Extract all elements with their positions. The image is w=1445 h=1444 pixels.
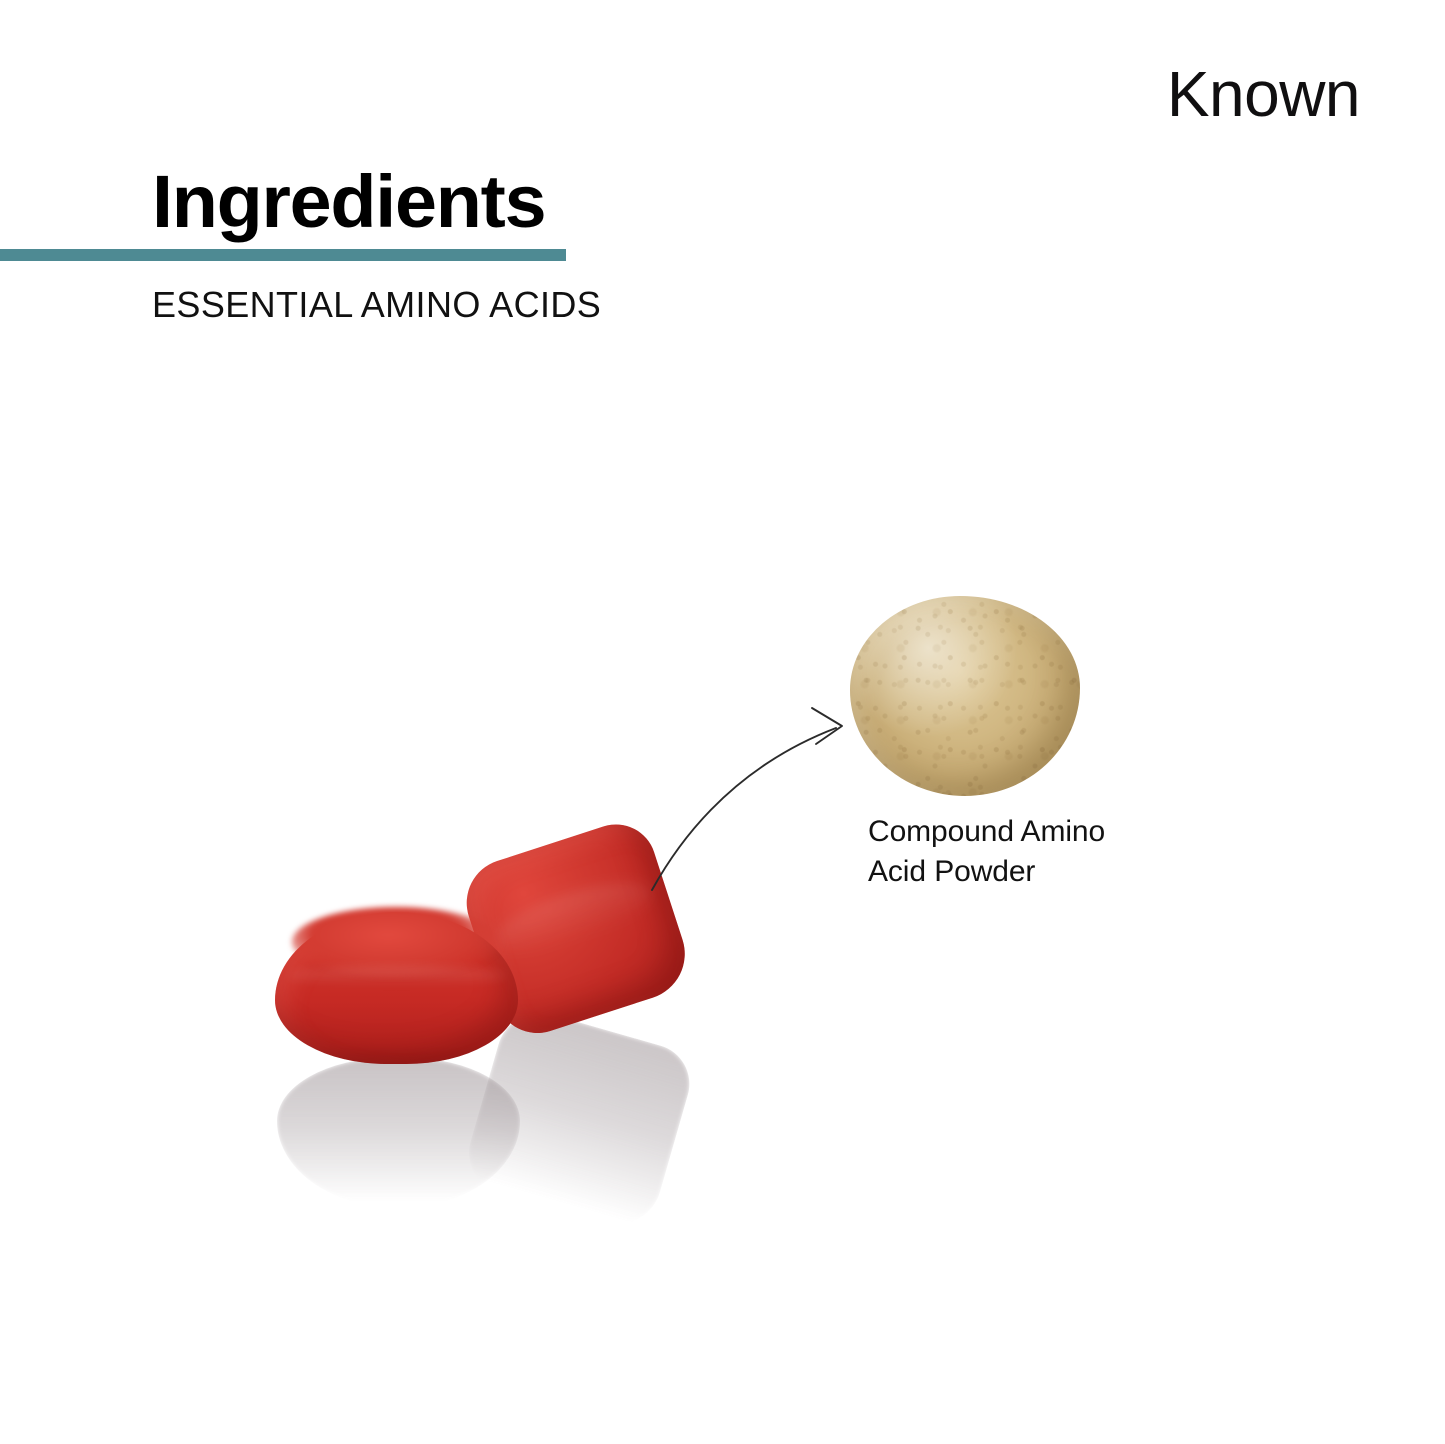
ingredient-label: Compound Amino Acid Powder — [868, 812, 1168, 892]
ingredient-label-line-2: Acid Powder — [868, 852, 1168, 892]
gummy-front — [275, 912, 518, 1064]
brand-logo: Known — [1167, 62, 1360, 126]
page-title: Ingredients — [152, 165, 772, 239]
title-underline-rule — [0, 249, 566, 261]
page-subtitle: ESSENTIAL AMINO ACIDS — [152, 287, 760, 323]
gummy-product-image — [255, 830, 725, 1290]
gummy-front-reflection — [277, 1058, 520, 1208]
ingredients-infographic-page: Known Ingredients ESSENTIAL AMINO ACIDS … — [0, 0, 1445, 1444]
heading-block: Ingredients ESSENTIAL AMINO ACIDS — [0, 165, 760, 323]
gummy-back-highlight — [487, 870, 658, 965]
powder-mound-shape — [850, 596, 1080, 796]
powder-texture-overlay — [850, 596, 1080, 796]
ingredient-swatch-compound-amino-acid-powder — [850, 596, 1080, 796]
ingredient-label-line-1: Compound Amino — [868, 812, 1168, 852]
gummy-front-highlight — [287, 967, 506, 985]
